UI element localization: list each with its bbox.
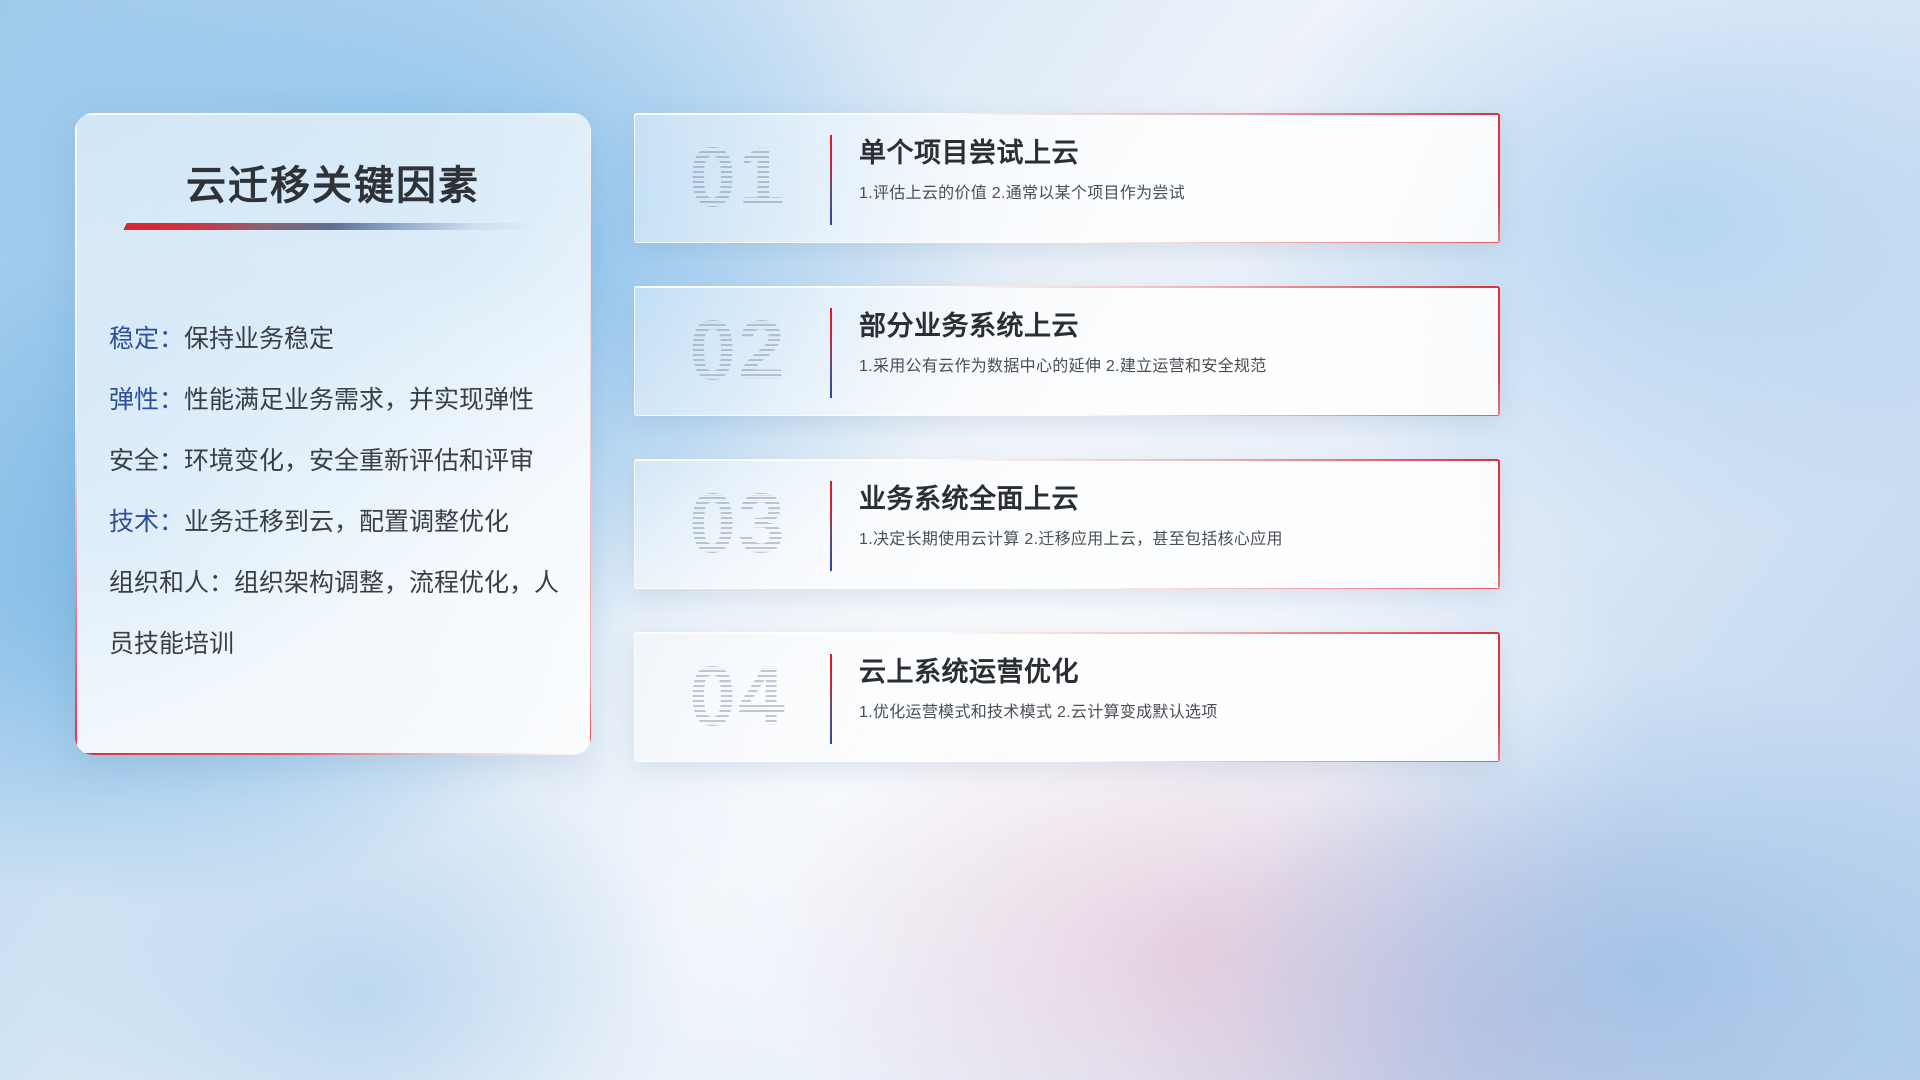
card-title: 云上系统运营优化 xyxy=(859,652,1474,692)
card-edge-left xyxy=(634,113,635,243)
card-divider-accent xyxy=(830,308,832,398)
factor-item-security: 安全：环境变化，安全重新评估和评审 xyxy=(109,431,567,492)
card-divider-accent xyxy=(830,481,832,571)
card-description: 1.优化运营模式和技术模式 2.云计算变成默认选项 xyxy=(859,701,1474,725)
card-title: 单个项目尝试上云 xyxy=(859,133,1474,173)
factor-item-stability: 稳定：保持业务稳定 xyxy=(109,309,567,370)
card-edge-right-accent xyxy=(1498,632,1500,762)
card-number: 02 xyxy=(658,294,818,406)
card-number: 03 xyxy=(658,467,818,579)
card-description: 1.采用公有云作为数据中心的延伸 2.建立运营和安全规范 xyxy=(859,355,1474,379)
card-edge-bottom xyxy=(634,242,1500,243)
card-edge-left xyxy=(634,286,635,416)
card-body: 业务系统全面上云 1.决定长期使用云计算 2.迁移应用上云，甚至包括核心应用 xyxy=(859,479,1474,552)
card-body: 单个项目尝试上云 1.评估上云的价值 2.通常以某个项目作为尝试 xyxy=(859,133,1474,206)
card-edge-top xyxy=(634,459,1500,461)
card-divider-accent xyxy=(830,135,832,225)
key-factors-panel: 云迁移关键因素 稳定：保持业务稳定 弹性：性能满足业务需求，并实现弹性 安全：环… xyxy=(75,113,591,755)
card-title: 部分业务系统上云 xyxy=(859,306,1474,346)
panel-title: 云迁移关键因素 xyxy=(75,153,591,211)
card-body: 部分业务系统上云 1.采用公有云作为数据中心的延伸 2.建立运营和安全规范 xyxy=(859,306,1474,379)
card-edge-left xyxy=(634,459,635,589)
factor-key: 组织和人： xyxy=(109,569,234,597)
title-underline-accent xyxy=(123,223,538,230)
card-number: 01 xyxy=(658,121,818,233)
card-edge-top xyxy=(634,286,1500,288)
card-edge-bottom xyxy=(634,761,1500,762)
factor-item-elasticity: 弹性：性能满足业务需求，并实现弹性 xyxy=(109,370,567,431)
card-edge-top xyxy=(634,113,1500,115)
factor-text: 保持业务稳定 xyxy=(184,325,334,353)
stage-card-list: 01 单个项目尝试上云 1.评估上云的价值 2.通常以某个项目作为尝试 02 部… xyxy=(634,113,1500,805)
card-edge-right-accent xyxy=(1498,113,1500,243)
panel-edge-top xyxy=(75,113,591,115)
card-body: 云上系统运营优化 1.优化运营模式和技术模式 2.云计算变成默认选项 xyxy=(859,652,1474,725)
card-edge-top xyxy=(634,632,1500,634)
panel-edge-bottom xyxy=(75,753,591,755)
factor-text: 环境变化，安全重新评估和评审 xyxy=(184,447,534,475)
stage-card-02[interactable]: 02 部分业务系统上云 1.采用公有云作为数据中心的延伸 2.建立运营和安全规范 xyxy=(634,286,1500,416)
factor-item-organization-people: 组织和人：组织架构调整，流程优化，人员技能培训 xyxy=(109,553,567,675)
card-description: 1.决定长期使用云计算 2.迁移应用上云，甚至包括核心应用 xyxy=(859,528,1474,552)
factor-text: 性能满足业务需求，并实现弹性 xyxy=(184,386,534,414)
factor-key: 安全： xyxy=(109,447,184,475)
card-edge-left xyxy=(634,632,635,762)
card-edge-bottom xyxy=(634,415,1500,416)
stage-card-03[interactable]: 03 业务系统全面上云 1.决定长期使用云计算 2.迁移应用上云，甚至包括核心应… xyxy=(634,459,1500,589)
factor-key: 稳定： xyxy=(109,325,184,353)
factor-key: 技术： xyxy=(109,508,184,536)
card-edge-bottom xyxy=(634,588,1500,589)
factor-key: 弹性： xyxy=(109,386,184,414)
factor-text: 业务迁移到云，配置调整优化 xyxy=(184,508,509,536)
stage-card-04[interactable]: 04 云上系统运营优化 1.优化运营模式和技术模式 2.云计算变成默认选项 xyxy=(634,632,1500,762)
factor-item-technology: 技术：业务迁移到云，配置调整优化 xyxy=(109,492,567,553)
card-description: 1.评估上云的价值 2.通常以某个项目作为尝试 xyxy=(859,182,1474,206)
factor-list: 稳定：保持业务稳定 弹性：性能满足业务需求，并实现弹性 安全：环境变化，安全重新… xyxy=(109,309,567,675)
card-edge-right-accent xyxy=(1498,459,1500,589)
stage-card-01[interactable]: 01 单个项目尝试上云 1.评估上云的价值 2.通常以某个项目作为尝试 xyxy=(634,113,1500,243)
card-number: 04 xyxy=(658,640,818,752)
card-title: 业务系统全面上云 xyxy=(859,479,1474,519)
card-edge-right-accent xyxy=(1498,286,1500,416)
card-divider-accent xyxy=(830,654,832,744)
